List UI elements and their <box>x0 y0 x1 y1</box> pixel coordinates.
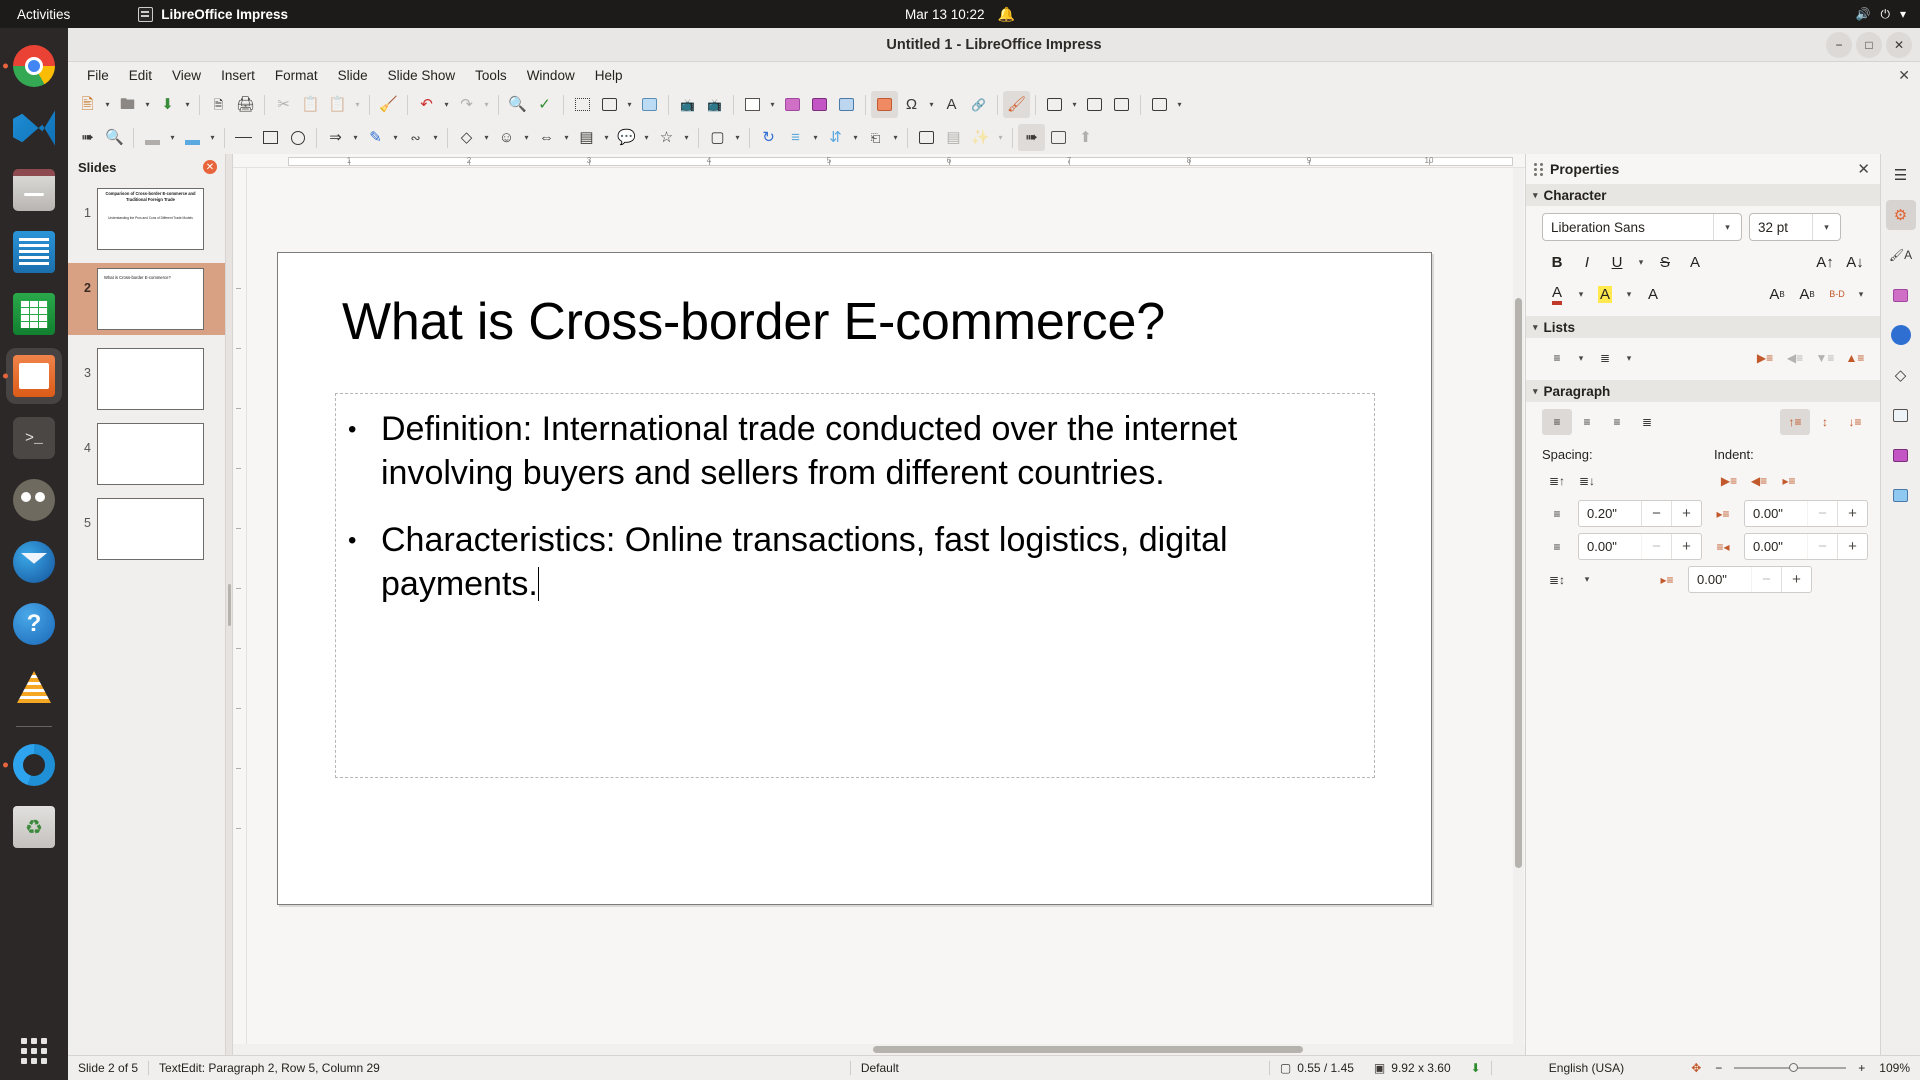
space-above-paragraph-field[interactable]: 0.20" − + <box>1578 500 1702 527</box>
start-from-current-slide-button[interactable]: 📺 <box>701 91 728 118</box>
active-app-indicator[interactable]: LibreOffice Impress <box>138 7 288 22</box>
open-button[interactable]: 🖿 <box>114 91 141 118</box>
ruler-label: 2 <box>467 156 471 165</box>
show-applications-icon[interactable] <box>21 1038 47 1064</box>
status-language[interactable]: English (USA) <box>1539 1061 1634 1075</box>
slide-number: 3 <box>73 366 91 380</box>
vertical-scrollbar[interactable] <box>1513 168 1524 1044</box>
menu-format[interactable]: Format <box>266 65 327 86</box>
ubuntu-dock: >_ ? <box>0 28 68 1080</box>
writer-icon <box>13 231 55 273</box>
display-views-button[interactable] <box>636 91 663 118</box>
insert-image-button[interactable] <box>779 91 806 118</box>
insert-text-box-button[interactable] <box>871 91 898 118</box>
move-down-button[interactable]: ▼≡ <box>1810 345 1840 371</box>
status-edit-mode: TextEdit: Paragraph 2, Row 5, Column 29 <box>149 1061 390 1075</box>
3d-objects-button[interactable]: ▢ <box>704 124 731 151</box>
toolbar-separator <box>733 95 734 115</box>
horizontal-scrollbar[interactable] <box>233 1044 1525 1055</box>
lists-section-header[interactable]: ▾ Lists <box>1526 316 1880 338</box>
properties-sidebar: Properties ✕ ▾ Character Liberation Sans… <box>1525 154 1880 1055</box>
toolbar-separator <box>907 128 908 148</box>
increment-button[interactable]: + <box>1671 501 1701 526</box>
maximize-button[interactable]: □ <box>1856 32 1882 58</box>
bullet-text: Characteristics: Online transactions, fa… <box>381 521 1228 603</box>
move-up-button[interactable]: ▲≡ <box>1840 345 1870 371</box>
paragraph-section-header[interactable]: ▾ Paragraph <box>1526 380 1880 402</box>
fill-color-dropdown[interactable]: ▾ <box>206 124 219 151</box>
distribute-dropdown[interactable]: ▾ <box>889 124 902 151</box>
copy-button[interactable]: 📋 <box>297 91 324 118</box>
master-slide-button[interactable] <box>596 91 623 118</box>
font-size-value: 32 pt <box>1750 220 1812 235</box>
find-replace-button[interactable]: 🔍 <box>504 91 531 118</box>
paste-button[interactable]: 📋 <box>324 91 351 118</box>
chevron-down-icon[interactable]: ▾ <box>1812 214 1840 240</box>
toolbar-separator <box>407 95 408 115</box>
decrement-button[interactable]: − <box>1807 534 1837 559</box>
chevron-down-icon: ▾ <box>1533 386 1538 397</box>
thumbnail-title: What is Cross-border E-commerce? <box>104 275 199 281</box>
block-arrows-dropdown[interactable]: ▾ <box>560 124 573 151</box>
scrollbar-thumb[interactable] <box>873 1046 1303 1053</box>
sidebar-item-animation[interactable] <box>1886 440 1916 470</box>
promote-button[interactable]: ◀≡ <box>1780 345 1810 371</box>
basic-shapes-dropdown[interactable]: ▾ <box>480 124 493 151</box>
increase-paragraph-spacing-button[interactable]: ≣↑ <box>1542 468 1572 494</box>
ellipse-button[interactable] <box>284 124 311 151</box>
before-text-indent-icon: ▸≡ <box>1708 501 1738 527</box>
thumbnail-subtitle: Understanding the Pros and Cons of Diffe… <box>108 216 193 220</box>
vscode-icon <box>13 107 55 149</box>
symbol-shapes-dropdown[interactable]: ▾ <box>520 124 533 151</box>
character-spacing-dropdown[interactable]: ▾ <box>1852 281 1870 307</box>
standard-toolbar: 🖹 ▾ 🖿 ▾ ⬇ ▾ 🗎 🖨 ✂ 📋 📋 ▾ 🧹 ↶ ▾ ↷ ▾ 🔍 ✓ <box>68 88 1920 121</box>
bold-button[interactable]: B <box>1542 249 1572 275</box>
unsaved-changes-icon[interactable]: ⬇ <box>1461 1061 1491 1075</box>
zoom-level[interactable]: 109% <box>1869 1061 1920 1075</box>
insert-audio-video-button[interactable] <box>806 91 833 118</box>
slide-number: 1 <box>73 206 91 220</box>
font-size-combobox[interactable]: 32 pt ▾ <box>1749 213 1841 241</box>
insert-line-button[interactable] <box>230 124 257 151</box>
active-app-label: LibreOffice Impress <box>161 7 288 22</box>
properties-header: Properties ✕ <box>1526 154 1880 184</box>
unordered-list-dropdown[interactable]: ▾ <box>1572 345 1590 371</box>
export-pdf-button[interactable]: 🗎 <box>205 91 232 118</box>
arrow-shapes-dropdown[interactable]: ▾ <box>349 124 362 151</box>
show-draw-functions-button[interactable]: 🖌 <box>1003 91 1030 118</box>
character-spacing-button[interactable]: B-D <box>1822 281 1852 307</box>
special-character-dropdown[interactable]: ▾ <box>925 91 938 118</box>
toolbar-separator <box>498 95 499 115</box>
align-center-button[interactable]: ≡ <box>1572 409 1602 435</box>
crop-image-button[interactable]: ▤ <box>940 124 967 151</box>
redo-button[interactable]: ↷ <box>453 91 480 118</box>
sidebar-item-properties[interactable]: ⚙ <box>1886 200 1916 230</box>
sidebar-item-gallery[interactable] <box>1886 280 1916 310</box>
sidebar-settings-menu-button[interactable]: ☰ <box>1886 160 1916 190</box>
underline-dropdown[interactable]: ▾ <box>1632 249 1650 275</box>
bullet-text: Definition: International trade conducte… <box>381 408 1350 495</box>
dock-item-terminal[interactable]: >_ <box>6 410 62 466</box>
connectors-dropdown[interactable]: ▾ <box>429 124 442 151</box>
slides-list[interactable]: 1 Comparison of Cross-border E-commerce … <box>68 180 225 1055</box>
distribute-button[interactable]: ⎗ <box>862 124 889 151</box>
align-objects-dropdown[interactable]: ▾ <box>809 124 822 151</box>
font-color-button[interactable]: A <box>1542 281 1572 307</box>
decrease-paragraph-spacing-button[interactable]: ≣↓ <box>1572 468 1602 494</box>
first-line-indent-field[interactable]: 0.00" − + <box>1688 566 1812 593</box>
space-below-paragraph-field[interactable]: 0.00" − + <box>1578 533 1702 560</box>
status-separator <box>1491 1061 1492 1075</box>
strikethrough-button[interactable]: S <box>1650 249 1680 275</box>
terminal-icon: >_ <box>13 417 55 459</box>
status-master-slide[interactable]: Default <box>851 1061 909 1075</box>
glue-points-button[interactable] <box>1045 124 1072 151</box>
select-tool-button[interactable]: ➠ <box>74 124 101 151</box>
curves-dropdown[interactable]: ▾ <box>389 124 402 151</box>
zoom-in-button[interactable]: + <box>1854 1061 1869 1075</box>
editor-area: 1 2 3 4 5 6 7 8 9 10 <box>233 154 1525 1055</box>
sidebar-item-shapes[interactable]: ◇ <box>1886 360 1916 390</box>
vlc-icon <box>13 665 55 707</box>
sidebar-item-styles[interactable]: 🖌A <box>1886 240 1916 270</box>
delete-slide-button[interactable] <box>1108 91 1135 118</box>
to-3d-button[interactable]: ⬆ <box>1072 124 1099 151</box>
status-bar: Slide 2 of 5 TextEdit: Paragraph 2, Row … <box>68 1055 1920 1080</box>
font-name-value: Liberation Sans <box>1543 220 1713 235</box>
new-document-button[interactable]: 🖹 <box>74 91 101 118</box>
bullet-text-wrapper: Characteristics: Online transactions, fa… <box>381 519 1350 606</box>
thunderbird-icon <box>13 541 55 583</box>
drag-grip-icon[interactable] <box>1534 163 1543 176</box>
decrement-button[interactable]: − <box>1641 501 1671 526</box>
decrease-indent-button[interactable]: ◀≡ <box>1744 468 1774 494</box>
close-document-icon[interactable]: ✕ <box>1898 67 1910 84</box>
sidebar-item-master-slides[interactable] <box>1886 400 1916 430</box>
before-text-indent-field[interactable]: 0.00" − + <box>1744 500 1868 527</box>
ordered-list-button[interactable]: ≣ <box>1590 345 1620 371</box>
dock-item-libreoffice-writer[interactable] <box>6 224 62 280</box>
bullet-glyph: • <box>348 519 381 606</box>
callouts-dropdown[interactable]: ▾ <box>640 124 653 151</box>
after-text-indent-field[interactable]: 0.00" − + <box>1744 533 1868 560</box>
print-button[interactable]: 🖨 <box>232 91 259 118</box>
ruler-label: 8 <box>1187 156 1191 165</box>
status-slide-count: Slide 2 of 5 <box>68 1061 148 1075</box>
increase-font-size-button[interactable]: A↑ <box>1810 249 1840 275</box>
fill-color-button[interactable] <box>179 124 206 151</box>
shadow-button[interactable] <box>913 124 940 151</box>
demote-button[interactable]: ▶≡ <box>1750 345 1780 371</box>
new-slide-dropdown[interactable]: ▾ <box>1068 91 1081 118</box>
new-document-dropdown[interactable]: ▾ <box>101 91 114 118</box>
position-value: 0.55 / 1.45 <box>1297 1061 1354 1075</box>
slide-page[interactable]: What is Cross-border E-commerce? • Defin… <box>277 252 1432 905</box>
toolbar-separator <box>224 128 225 148</box>
block-arrows-button[interactable]: ⇔ <box>533 124 560 151</box>
filter-dropdown[interactable]: ▾ <box>994 124 1007 151</box>
ruler-label: 7 <box>1067 156 1071 165</box>
increment-button[interactable]: + <box>1837 501 1867 526</box>
paragraph-section-label: Paragraph <box>1544 384 1611 399</box>
clock-label: Mar 13 10:22 <box>905 7 985 22</box>
menu-window[interactable]: Window <box>518 65 584 86</box>
shadow-button[interactable]: A <box>1680 249 1710 275</box>
decrease-font-size-button[interactable]: A↓ <box>1840 249 1870 275</box>
clear-formatting-button[interactable]: A <box>1638 281 1668 307</box>
align-left-button[interactable]: ≡ <box>1542 409 1572 435</box>
align-justified-button[interactable]: ≣ <box>1632 409 1662 435</box>
drawing-toolbar: ➠ 🔍 ▾ ▾ ⇒ ▾ ✎ ▾ ∾ ▾ ◇ ▾ ☺ ▾ ⇔ ▾ ▤ <box>68 121 1920 154</box>
insert-special-character-button[interactable]: Ω <box>898 91 925 118</box>
dock-item-thunderbird[interactable] <box>6 534 62 590</box>
chevron-down-icon[interactable]: ▾ <box>1713 214 1741 240</box>
sync-icon <box>13 744 55 786</box>
menu-slide-show[interactable]: Slide Show <box>379 65 465 86</box>
first-line-indent-value: 0.00" <box>1689 572 1751 587</box>
increase-indent-button[interactable]: ▶≡ <box>1714 468 1744 494</box>
window-title: Untitled 1 - LibreOffice Impress <box>886 37 1101 53</box>
insert-table-dropdown[interactable]: ▾ <box>766 91 779 118</box>
character-section-header[interactable]: ▾ Character <box>1526 184 1880 206</box>
paragraph-section-body: ≡ ≡ ≡ ≣ ↑≡ ↕ ↓≡ Spacing: Indent: <box>1526 402 1880 602</box>
stars-dropdown[interactable]: ▾ <box>680 124 693 151</box>
undo-dropdown[interactable]: ▾ <box>440 91 453 118</box>
fit-slide-icon[interactable]: ✥ <box>1681 1061 1711 1075</box>
slide-thumbnail-4[interactable]: 4 <box>68 423 225 485</box>
spelling-button[interactable]: ✓ <box>531 91 558 118</box>
after-text-indent-icon: ≡◂ <box>1708 534 1738 560</box>
line-spacing-dropdown[interactable]: ▾ <box>1578 567 1596 593</box>
toolbar-separator <box>1012 128 1013 148</box>
before-text-indent-value: 0.00" <box>1745 506 1807 521</box>
system-status-area[interactable]: 🔊 ⏻ ▾ <box>1856 7 1906 22</box>
highlight-color-dropdown[interactable]: ▾ <box>1620 281 1638 307</box>
horizontal-ruler[interactable]: 1 2 3 4 5 6 7 8 9 10 <box>233 154 1525 168</box>
basic-shapes-button[interactable]: ◇ <box>453 124 480 151</box>
filter-button[interactable]: ✨ <box>967 124 994 151</box>
menu-edit[interactable]: Edit <box>120 65 161 86</box>
thumbnail-canvas: What is Cross-border E-commerce? <box>97 268 204 330</box>
window-titlebar: Untitled 1 - LibreOffice Impress − □ ✕ <box>68 28 1920 62</box>
clone-formatting-button[interactable]: 🧹 <box>375 91 402 118</box>
redo-dropdown[interactable]: ▾ <box>480 91 493 118</box>
dock-item-libreoffice-calc[interactable] <box>6 286 62 342</box>
close-icon[interactable]: ✕ <box>1857 160 1870 178</box>
dock-item-gimp[interactable] <box>6 472 62 528</box>
slide-thumbnail-1[interactable]: 1 Comparison of Cross-border E-commerce … <box>68 188 225 250</box>
superscript-button[interactable]: AB <box>1762 281 1792 307</box>
line-color-button[interactable] <box>139 124 166 151</box>
symbol-shapes-button[interactable]: ☺ <box>493 124 520 151</box>
center-vertically-button[interactable]: ↕ <box>1810 409 1840 435</box>
slide-number: 2 <box>73 281 91 295</box>
toolbar-separator <box>563 95 564 115</box>
menu-tools[interactable]: Tools <box>466 65 516 86</box>
points-button[interactable]: ➠ <box>1018 124 1045 151</box>
arrange-dropdown[interactable]: ▾ <box>849 124 862 151</box>
rectangle-button[interactable] <box>257 124 284 151</box>
font-color-dropdown[interactable]: ▾ <box>1572 281 1590 307</box>
dock-item-visual-studio-code[interactable] <box>6 100 62 156</box>
flowchart-button[interactable]: ▤ <box>573 124 600 151</box>
increment-button[interactable]: + <box>1671 534 1701 559</box>
zoom-tool-button[interactable]: 🔍 <box>101 124 128 151</box>
calc-icon <box>13 293 55 335</box>
bullet-item-1[interactable]: • Definition: International trade conduc… <box>348 408 1350 495</box>
scrollbar-thumb[interactable] <box>1515 298 1522 868</box>
dock-item-help[interactable]: ? <box>6 596 62 652</box>
position-icon: ▢ <box>1280 1062 1291 1074</box>
duplicate-slide-button[interactable] <box>1081 91 1108 118</box>
slide-thumbnail-5[interactable]: 5 <box>68 498 225 560</box>
decrement-button[interactable]: − <box>1641 534 1671 559</box>
increment-button[interactable]: + <box>1837 534 1867 559</box>
menu-view[interactable]: View <box>163 65 210 86</box>
toolbar-separator <box>668 95 669 115</box>
ruler-label: 10 <box>1425 156 1434 165</box>
insert-chart-button[interactable] <box>833 91 860 118</box>
chevron-down-icon: ▾ <box>1900 7 1906 21</box>
dock-item-sync[interactable] <box>6 737 62 793</box>
bullet-glyph: • <box>348 408 381 495</box>
paste-dropdown[interactable]: ▾ <box>351 91 364 118</box>
zoom-out-button[interactable]: − <box>1711 1061 1726 1075</box>
sidebar-item-slide-transition[interactable] <box>1886 480 1916 510</box>
space-above-value: 0.20" <box>1579 506 1641 521</box>
ruler-track: 1 2 3 4 5 6 7 8 9 10 <box>288 157 1513 166</box>
slide-thumbnail-2[interactable]: 2 What is Cross-border E-commerce? <box>68 263 225 335</box>
slide-layout-dropdown[interactable]: ▾ <box>1173 91 1186 118</box>
window-controls: − □ ✕ <box>1826 32 1912 58</box>
menu-insert[interactable]: Insert <box>212 65 264 86</box>
activities-button[interactable]: Activities <box>17 7 70 22</box>
chevron-down-icon: ▾ <box>1533 190 1538 201</box>
main-area: Slides ✕ 1 Comparison of Cross-border E-… <box>68 154 1920 1055</box>
display-grid-button[interactable] <box>569 91 596 118</box>
close-icon[interactable]: ✕ <box>203 160 217 174</box>
flowchart-dropdown[interactable]: ▾ <box>600 124 613 151</box>
ruler-label: 5 <box>827 156 831 165</box>
dock-item-files[interactable] <box>6 162 62 218</box>
hanging-indent-button[interactable]: ▸≡ <box>1774 468 1804 494</box>
insert-hyperlink-button[interactable]: 🔗 <box>965 91 992 118</box>
ruler-label: 1 <box>347 156 351 165</box>
align-right-button[interactable]: ≡ <box>1602 409 1632 435</box>
thumbnail-canvas: Comparison of Cross-border E-commerce an… <box>97 188 204 250</box>
set-line-spacing-button[interactable]: ≣↕ <box>1542 567 1572 593</box>
menu-help[interactable]: Help <box>586 65 632 86</box>
start-from-first-slide-button[interactable]: 📺 <box>674 91 701 118</box>
save-dropdown[interactable]: ▾ <box>181 91 194 118</box>
dock-item-trash[interactable] <box>6 799 62 855</box>
align-top-button[interactable]: ↑≡ <box>1780 409 1810 435</box>
clock-area[interactable]: Mar 13 10:22 🔔 <box>905 6 1015 23</box>
stars-button[interactable]: ☆ <box>653 124 680 151</box>
align-bottom-button[interactable]: ↓≡ <box>1840 409 1870 435</box>
text-caret <box>538 567 540 601</box>
insert-table-button[interactable] <box>739 91 766 118</box>
highlight-color-button[interactable]: A <box>1590 281 1620 307</box>
dock-item-libreoffice-impress[interactable] <box>6 348 62 404</box>
slide-layout-button[interactable] <box>1146 91 1173 118</box>
decrement-button[interactable]: − <box>1751 567 1781 592</box>
sidebar-icon-strip: ☰ ⚙ 🖌A ◇ <box>1880 154 1920 1055</box>
align-objects-button[interactable]: ≡ <box>782 124 809 151</box>
arrow-shapes-button[interactable]: ⇒ <box>322 124 349 151</box>
line-color-dropdown[interactable]: ▾ <box>166 124 179 151</box>
vertical-ruler[interactable] <box>233 168 247 1044</box>
dock-item-google-chrome[interactable] <box>6 38 62 94</box>
underline-button[interactable]: U <box>1602 249 1632 275</box>
gnome-top-bar: Activities LibreOffice Impress Mar 13 10… <box>0 0 1920 28</box>
spacing-label: Spacing: <box>1542 447 1714 462</box>
slide-title-placeholder[interactable]: What is Cross-border E-commerce? <box>342 293 1371 351</box>
zoom-slider-knob[interactable] <box>1789 1063 1798 1072</box>
toolbar-separator <box>997 95 998 115</box>
indent-label: Indent: <box>1714 447 1754 462</box>
ordered-list-dropdown[interactable]: ▾ <box>1620 345 1638 371</box>
toolbar-separator <box>1140 95 1141 115</box>
curves-and-polygons-button[interactable]: ✎ <box>362 124 389 151</box>
status-size: ▣ 9.92 x 3.60 <box>1364 1061 1461 1075</box>
subscript-button[interactable]: AB <box>1792 281 1822 307</box>
chrome-icon <box>13 45 55 87</box>
unordered-list-button[interactable]: ≡ <box>1542 345 1572 371</box>
toolbar-separator <box>865 95 866 115</box>
decrement-button[interactable]: − <box>1807 501 1837 526</box>
slide-canvas[interactable]: What is Cross-border E-commerce? • Defin… <box>247 168 1525 1044</box>
zoom-slider[interactable] <box>1734 1062 1846 1074</box>
close-button[interactable]: ✕ <box>1886 32 1912 58</box>
font-name-combobox[interactable]: Liberation Sans ▾ <box>1542 213 1742 241</box>
panel-splitter[interactable] <box>226 154 233 1055</box>
first-line-indent-icon: ▸≡ <box>1652 567 1682 593</box>
3d-objects-dropdown[interactable]: ▾ <box>731 124 744 151</box>
open-dropdown[interactable]: ▾ <box>141 91 154 118</box>
minimize-button[interactable]: − <box>1826 32 1852 58</box>
slide-thumbnail-3[interactable]: 3 <box>68 348 225 410</box>
insert-fontwork-button[interactable]: A <box>938 91 965 118</box>
italic-button[interactable]: I <box>1572 249 1602 275</box>
sidebar-item-navigator[interactable] <box>1886 320 1916 350</box>
new-slide-button[interactable] <box>1041 91 1068 118</box>
power-icon: ⏻ <box>1880 7 1890 22</box>
slides-panel: Slides ✕ 1 Comparison of Cross-border E-… <box>68 154 226 1055</box>
gimp-icon <box>13 479 55 521</box>
increment-button[interactable]: + <box>1781 567 1811 592</box>
volume-icon: 🔊 <box>1856 7 1871 21</box>
rotate-button[interactable]: ↻ <box>755 124 782 151</box>
dock-item-vlc[interactable] <box>6 658 62 714</box>
connectors-button[interactable]: ∾ <box>402 124 429 151</box>
size-value: 9.92 x 3.60 <box>1391 1061 1450 1075</box>
bullet-item-2[interactable]: • Characteristics: Online transactions, … <box>348 519 1350 606</box>
menu-file[interactable]: File <box>78 65 118 86</box>
undo-button[interactable]: ↶ <box>413 91 440 118</box>
libreoffice-impress-window: Untitled 1 - LibreOffice Impress − □ ✕ F… <box>68 28 1920 1080</box>
callouts-button[interactable]: 💬 <box>613 124 640 151</box>
arrange-button[interactable]: ⇵ <box>822 124 849 151</box>
slide-content-placeholder[interactable]: • Definition: International trade conduc… <box>335 393 1375 778</box>
cut-button[interactable]: ✂ <box>270 91 297 118</box>
menu-slide[interactable]: Slide <box>329 65 377 86</box>
toolbar-separator <box>749 128 750 148</box>
save-button[interactable]: ⬇ <box>154 91 181 118</box>
master-slide-dropdown[interactable]: ▾ <box>623 91 636 118</box>
